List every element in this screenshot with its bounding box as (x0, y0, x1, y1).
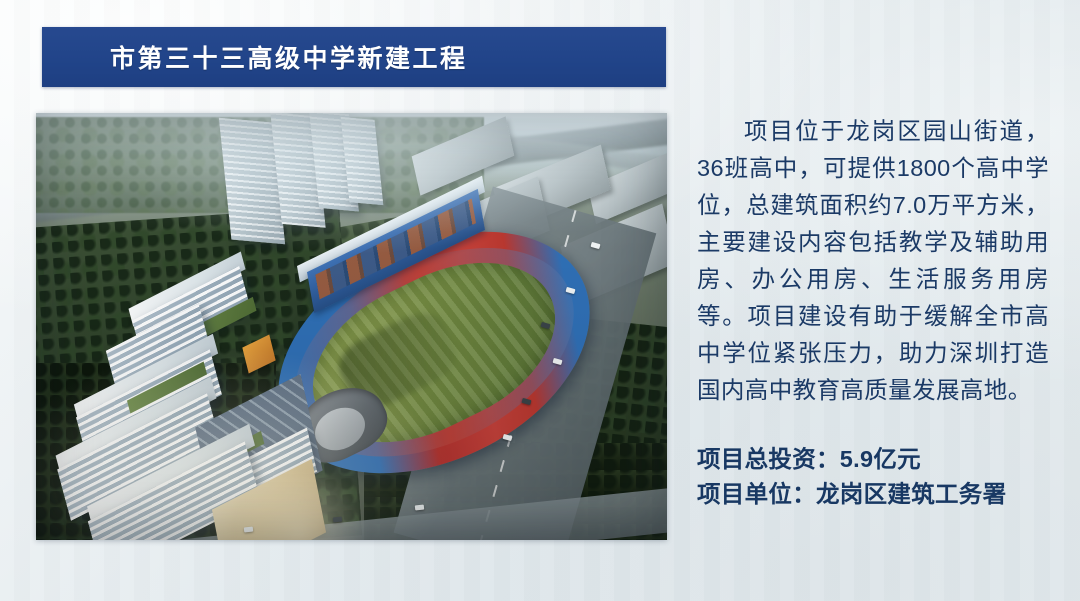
project-description: 项目位于龙岗区园山街道，36班高中，可提供1800个高中学位，总建筑面积约7.0… (697, 113, 1049, 409)
title-banner: 市第三十三高级中学新建工程 (42, 27, 666, 87)
slide-root: 市第三十三高级中学新建工程 (0, 0, 1080, 601)
description-column: 项目位于龙岗区园山街道，36班高中，可提供1800个高中学位，总建筑面积约7.0… (697, 113, 1049, 512)
car (414, 505, 423, 511)
page-title: 市第三十三高级中学新建工程 (110, 39, 468, 75)
rendering-scene (36, 113, 667, 540)
project-facts: 项目总投资：5.9亿元 项目单位：龙岗区建筑工务署 (697, 442, 1049, 512)
project-rendering-image (36, 113, 667, 540)
fact-total-investment: 项目总投资：5.9亿元 (697, 442, 1049, 477)
car (332, 517, 341, 523)
fact-project-unit: 项目单位：龙岗区建筑工务署 (697, 477, 1049, 512)
car (244, 527, 253, 533)
